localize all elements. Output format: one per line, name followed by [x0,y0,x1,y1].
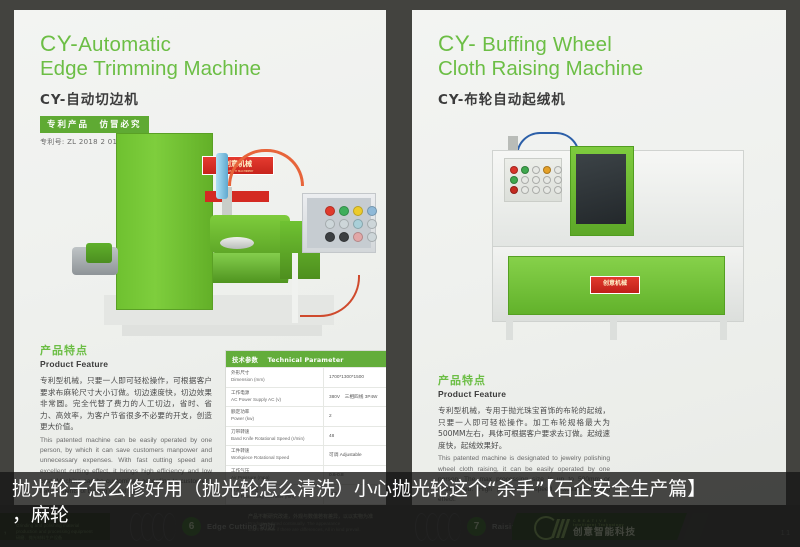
table-cell-value: 可调 Adjustable [324,446,386,465]
push-button-white-8 [532,186,540,194]
machine-motor-green [86,243,112,263]
machine-control-panel [302,193,376,253]
push-button-green [521,166,529,174]
table-cell-value: 380V 三相四线 3P4W [324,388,386,407]
machine-cable [300,275,360,317]
push-button-orange [543,166,551,174]
left-title-en-word: Automatic [78,33,171,56]
row-value: 1700*1300*1500 [329,374,364,380]
machine-cylinder [216,153,228,199]
push-button-teal [353,219,363,229]
push-button-grey-2 [339,219,349,229]
machine2-brand-sign: 创意机械 [590,276,640,294]
panel-cloth-raising-machine: CY- Buffing Wheel Cloth Raising Machine … [400,0,800,547]
push-button-white-2 [554,166,562,174]
machine-warning-sign [205,191,269,202]
right-title-cy-prefix: CY- [438,31,476,56]
row-label-en: Band Knife Rotational Speed (r/min) [231,436,318,442]
push-button-blue [367,206,377,216]
right-title-en-word: Buffing Wheel [482,33,612,56]
row-label-en: Dimension (mm) [231,377,318,383]
left-title-cy-prefix: CY- [40,31,78,56]
machine2-leg-mid [610,316,617,340]
push-button-white-1 [532,166,540,174]
push-button-grey-3 [367,219,377,229]
left-table-header: 技术参数 Technical Parameter [226,351,386,367]
row-value: 可调 Adjustable [329,452,362,458]
machine2-leg-left [506,316,513,340]
left-feature-body-cn: 专利型机械，只要一人即可轻松操作，可根据客户要求布麻轮尺寸大小订做。切边速度快，… [40,375,212,433]
row-label-en: Workpiece Rotational Speed [231,455,318,461]
emergency-stop-button [510,186,518,194]
push-button-green-2 [510,176,518,184]
right-feature-body-cn: 专利型机械，专用于抛光珠宝首饰的布轮的起绒，只要一人即可轻松操作。加工布轮规格最… [438,405,610,451]
machine2-brand-sign-cn: 创意机械 [591,278,639,287]
table-cell-label: 额定功率 Power (kw) [226,407,324,426]
table-row: 外形尺寸 Dimension (mm) 1700*1300*1500 [226,367,386,387]
push-button-pink [353,232,363,242]
push-button-white-6 [554,176,562,184]
control-panel-buttons [325,206,378,242]
row-label-en: Power (kw) [231,416,318,422]
push-button-white-9 [543,186,551,194]
edge-trimming-machine-photo: 创意机械 CHUANG YI MACHINERY [44,125,384,340]
row-value: 2 [329,413,332,419]
table-cell-value: 2 [324,407,386,426]
caption-overlay: 抛光轮子怎么修好用（抛光轮怎么清洗）小心抛光轮这个“杀手”【石企安全生产篇】 ，… [0,472,800,547]
left-table-header-cn: 技术参数 [232,357,258,364]
right-title-en-line2: Cloth Raising Machine [438,57,774,81]
push-button-red [510,166,518,174]
push-button-white-10 [554,186,562,194]
table-cell-value: 1700*1300*1500 [324,368,386,387]
table-cell-label: 工作电源 AC Power Supply AC (v) [226,388,324,407]
knob-1 [325,232,335,242]
table-cell-label: 外形尺寸 Dimension (mm) [226,368,324,387]
left-table-header-en: Technical Parameter [268,357,344,364]
catalog-page: CY-Automatic Edge Trimming Machine CY-自动… [0,0,800,547]
machine2-leg-right [720,316,727,340]
machine2-control-buttons [510,166,563,194]
left-title-en-line1: CY-Automatic [40,32,374,57]
right-title-en-line1: CY- Buffing Wheel [438,32,774,57]
table-cell-value: 48 [324,427,386,446]
table-row: 额定功率 Power (kw) 2 [226,406,386,426]
caption-line-1: 抛光轮子怎么修好用（抛光轮怎么清洗）小心抛光轮这个“杀手”【石企安全生产篇】 [12,476,792,502]
table-row: 工件转速 Workpiece Rotational Speed 可调 Adjus… [226,445,386,465]
push-button-white-5 [543,176,551,184]
push-button-grey-1 [325,219,335,229]
sheet-right: CY- Buffing Wheel Cloth Raising Machine … [412,10,786,513]
table-cell-label: 刀带转速 Band Knife Rotational Speed (r/min) [226,427,324,446]
push-button-white-4 [532,176,540,184]
machine-cutting-head [210,215,290,253]
push-button-green [339,206,349,216]
machine2-window-glass [576,154,626,224]
right-heading-block: CY- Buffing Wheel Cloth Raising Machine … [438,32,774,108]
push-button-white-7 [521,186,529,194]
machine-green-body: 创意机械 CHUANG YI MACHINERY [116,133,213,310]
table-row: 工作电源 AC Power Supply AC (v) 380V 三相四线 3P… [226,387,386,407]
right-feature-title-en: Product Feature [438,389,610,399]
right-feature-title-cn: 产品特点 [438,372,610,388]
caption-line-2: ，麻轮 [12,502,69,528]
left-feature-title-cn: 产品特点 [40,342,212,358]
push-button-yellow [353,206,363,216]
sheet-left: CY-Automatic Edge Trimming Machine CY-自动… [14,10,386,513]
push-button-grey-4 [367,232,377,242]
table-row: 刀带转速 Band Knife Rotational Speed (r/min)… [226,426,386,446]
row-label-en: AC Power Supply AC (v) [231,397,318,403]
cloth-raising-machine-photo: 创意机械 [470,128,780,328]
left-title-en-line2: Edge Trimming Machine [40,57,374,81]
machine-worktable [202,253,292,283]
right-title-cn: CY-布轮自动起绒机 [438,88,774,108]
left-title-cn: CY-自动切边机 [40,88,374,108]
knob-2 [339,232,349,242]
machine-hose [228,149,304,186]
panel-edge-trimming-machine: CY-Automatic Edge Trimming Machine CY-自动… [0,0,400,547]
push-button-red [325,206,335,216]
row-value: 380V 三相四线 3P4W [329,394,377,400]
push-button-white-3 [521,176,529,184]
row-value: 48 [329,433,334,439]
left-feature-title-en: Product Feature [40,359,212,369]
machine-pipe [292,253,298,323]
panels-container: CY-Automatic Edge Trimming Machine CY-自动… [0,0,800,547]
machine-disc [220,237,254,249]
table-cell-label: 工件转速 Workpiece Rotational Speed [226,446,324,465]
